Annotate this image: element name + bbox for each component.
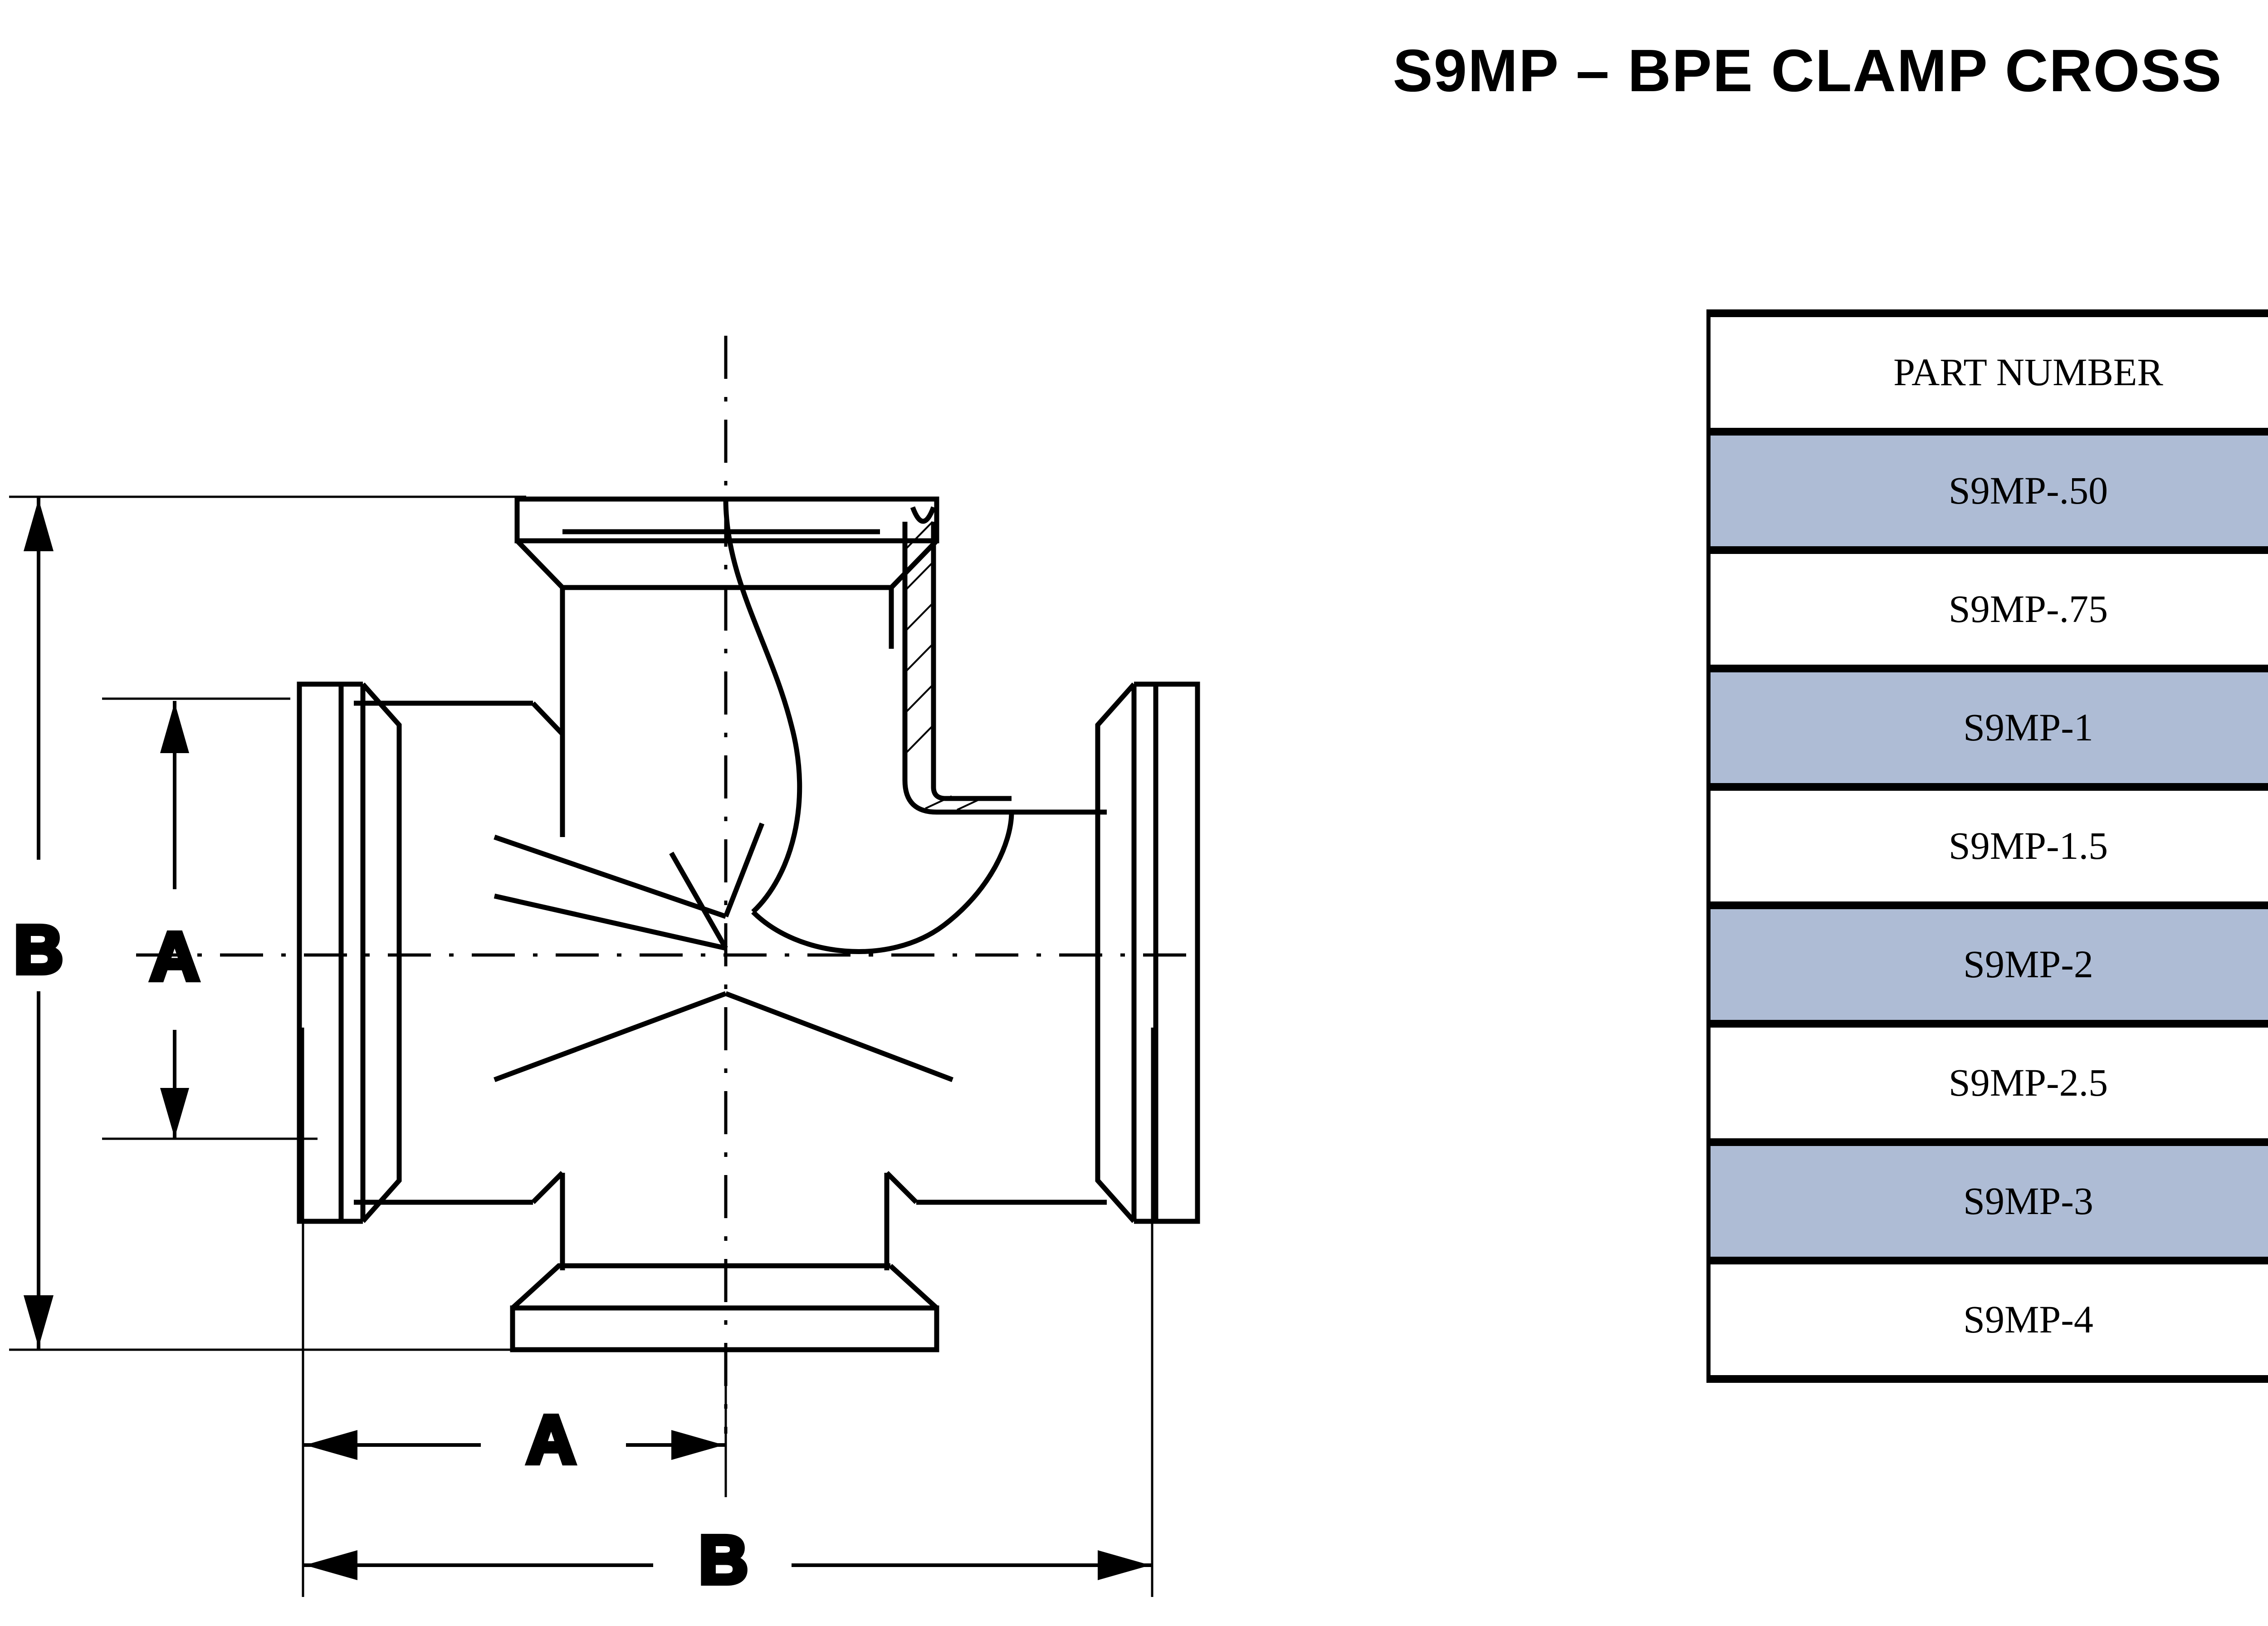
table-row: S9MP-333.8757.750 [1709,1142,2268,1261]
technical-drawing-panel: B A A B [0,0,1225,1626]
dimension-a-horizontal: A [304,1401,725,1478]
table-row: S9MP-1.51-1/22.8755.750 [1709,787,2268,906]
cell-part-number: S9MP-3 [1709,1142,2268,1261]
top-branch [517,499,1012,951]
table-row: S9MP-112.6255.250 [1709,669,2268,787]
dimension-b-horizontal: B [304,1522,1151,1598]
cross-fitting-drawing: B A A B [0,0,1225,1626]
cell-part-number: S9MP-2.5 [1709,1024,2268,1142]
column-header-label: PART NUMBER [1893,350,2163,394]
body-outline [354,703,1107,1270]
cell-part-number: S9MP-4 [1709,1261,2268,1379]
dim-label-a-horizontal: A [527,1401,576,1478]
dim-label-a-vertical: A [150,918,199,994]
section-hatch [906,522,983,810]
table-row: S9MP-.753/42.5005.000 [1709,550,2268,669]
left-clamp-ferrule [299,684,399,1221]
table-row: S9MP-.501/22.3754.750 [1709,432,2268,550]
cell-part-number: S9MP-1 [1709,669,2268,787]
table-header-row: PART NUMBER SIZE (inches) A (inches) B (… [1709,313,2268,432]
dim-label-b-vertical: B [14,911,63,988]
column-header-part-number: PART NUMBER [1709,313,2268,432]
cell-part-number: S9MP-.50 [1709,432,2268,550]
spec-table-container: PART NUMBER SIZE (inches) A (inches) B (… [1706,309,2268,1390]
table-row: S9MP-444.7509.500 [1709,1261,2268,1379]
dimension-a-vertical: A [150,701,199,1139]
dimension-b-vertical: B [14,497,63,1350]
cell-part-number: S9MP-.75 [1709,550,2268,669]
dim-label-b-horizontal: B [699,1522,748,1598]
right-clamp-ferrule [1098,684,1198,1221]
cell-part-number: S9MP-1.5 [1709,787,2268,906]
table-row: S9MP-223.3756.750 [1709,906,2268,1024]
table-row: S9MP-2.52-1/23.6257.250 [1709,1024,2268,1142]
dimensions-table: PART NUMBER SIZE (inches) A (inches) B (… [1706,309,2268,1383]
cell-part-number: S9MP-2 [1709,906,2268,1024]
